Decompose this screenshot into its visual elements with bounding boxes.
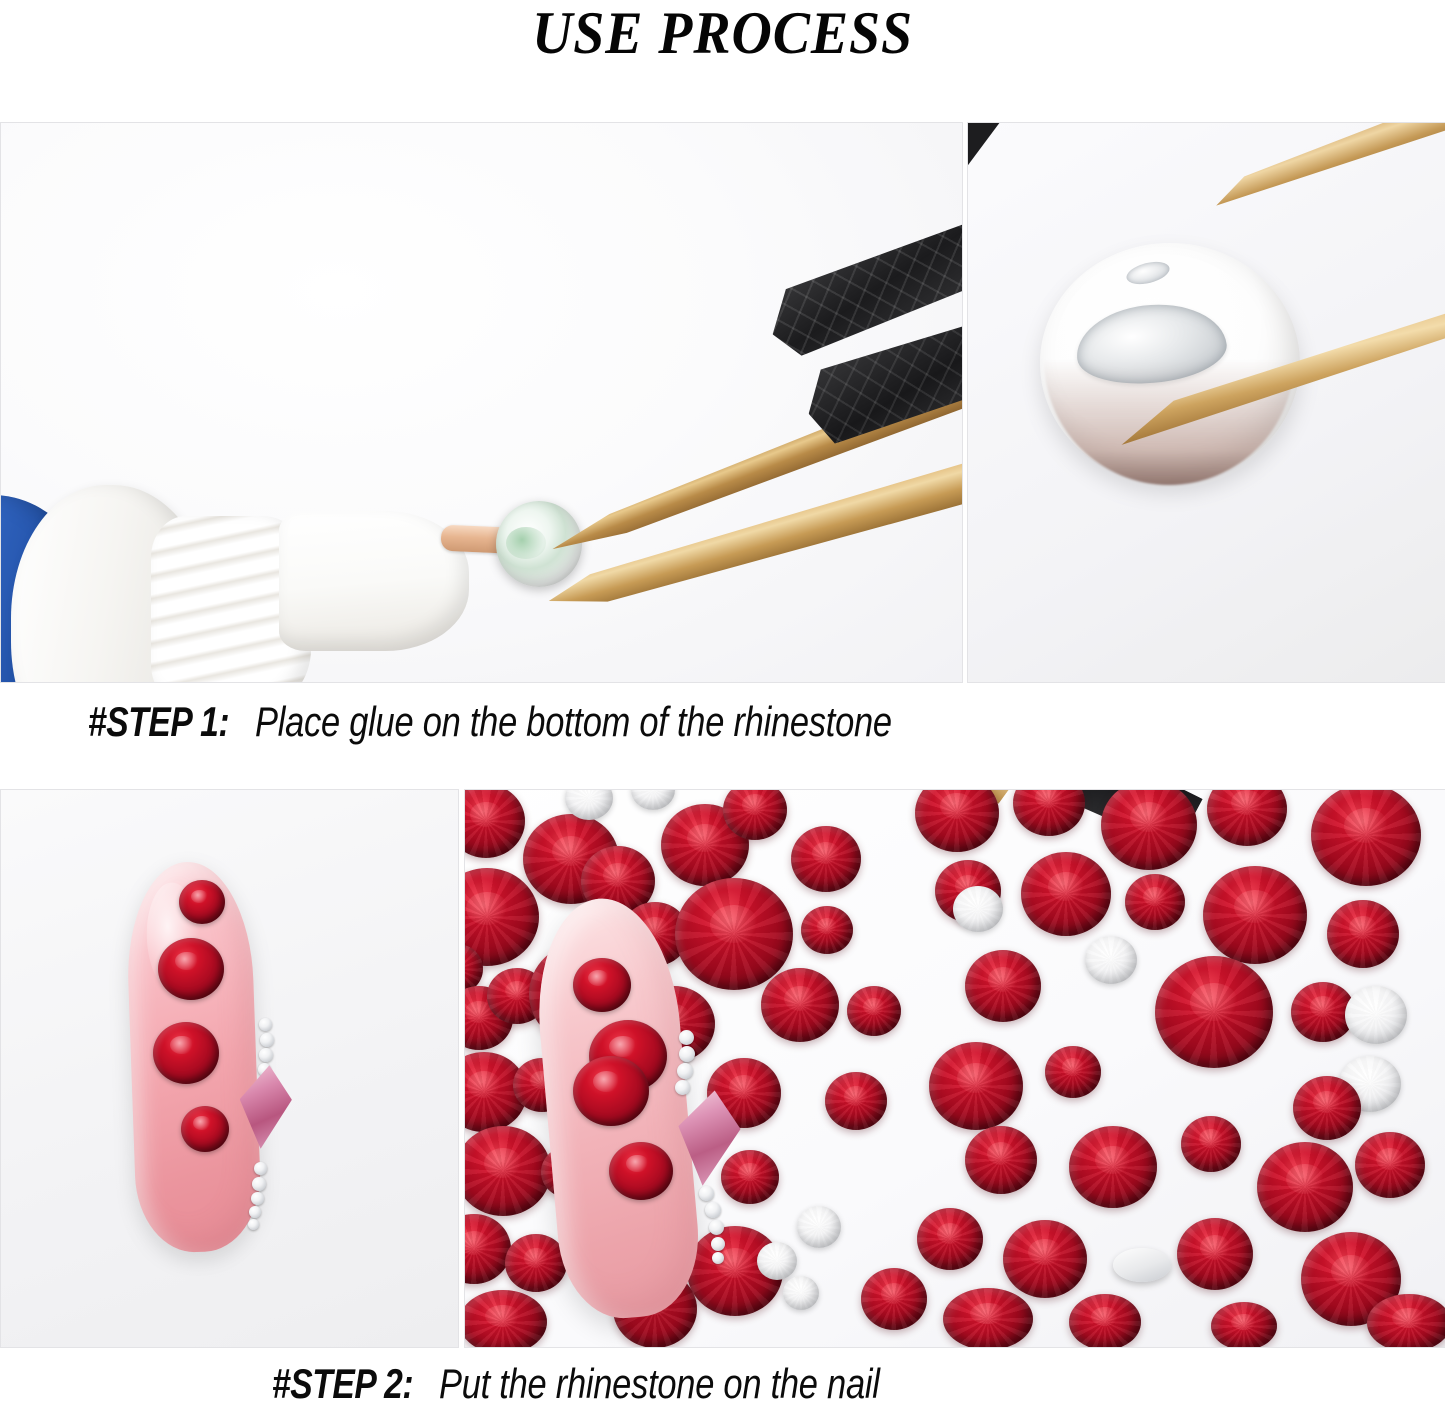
nail-clear-bead: [675, 1080, 690, 1095]
nail-clear-bead: [679, 1046, 695, 1062]
nail-red-rhinestone: [153, 1022, 219, 1084]
nail-red-rhinestone: [573, 958, 631, 1012]
scattered-rhinestone: [1155, 956, 1273, 1068]
nail-clear-bead: [254, 1162, 267, 1175]
nail-clear-bead: [711, 1237, 725, 1251]
nail-red-rhinestone: [573, 1056, 649, 1126]
scattered-rhinestone: [929, 1042, 1023, 1130]
nail-clear-bead: [679, 1030, 694, 1045]
scattered-clear-rhinestone: [783, 1276, 819, 1310]
nail-red-rhinestone: [179, 880, 225, 924]
nail-clear-bead: [248, 1219, 259, 1230]
scattered-rhinestone: [1069, 1294, 1141, 1348]
scattered-rhinestone: [1293, 1076, 1361, 1140]
glue-bottle-nozzle: [279, 511, 469, 651]
scattered-clear-rhinestone: [757, 1242, 797, 1280]
scattered-rhinestone: [1069, 1126, 1157, 1208]
use-process-infographic: USE PROCESS: [0, 0, 1445, 1412]
step-2-caption: #STEP 2:Put the rhinestone on the nail: [0, 1360, 1445, 1408]
nail-red-rhinestone: [181, 1106, 229, 1152]
scattered-rhinestone: [761, 968, 839, 1042]
scattered-clear-rhinestone: [953, 886, 1003, 932]
scattered-clear-rhinestone: [1085, 936, 1137, 984]
page-title: USE PROCESS: [51, 2, 1395, 65]
scattered-rhinestone: [1367, 1294, 1445, 1348]
nail-clear-bead: [709, 1220, 724, 1235]
scattered-rhinestone: [675, 878, 793, 990]
step-2-label: #STEP 2:: [272, 1360, 413, 1408]
nail-red-rhinestone: [609, 1142, 673, 1200]
nail-clear-bead: [251, 1192, 264, 1205]
nail-clear-bead: [259, 1048, 273, 1062]
scattered-rhinestone: [965, 950, 1041, 1022]
scattered-rhinestone: [791, 826, 861, 892]
scattered-rhinestone: [1355, 1132, 1425, 1198]
scattered-rhinestone: [721, 1150, 779, 1204]
scattered-rhinestone: [825, 1072, 887, 1130]
nail-clear-bead: [705, 1202, 721, 1218]
step-2-photo-row: [0, 789, 1445, 1348]
nail-clear-bead: [260, 1033, 274, 1047]
scattered-rhinestone: [1045, 1046, 1101, 1098]
nail-clear-bead: [712, 1252, 724, 1264]
nail-clear-bead: [677, 1063, 693, 1079]
nail-clear-bead: [252, 1177, 266, 1191]
finished-nail-photo: [0, 789, 459, 1348]
nail-red-rhinestone: [158, 938, 224, 1000]
step-1-label: #STEP 1:: [88, 698, 229, 746]
scattered-rhinestone: [801, 906, 853, 954]
scattered-rhinestone: [1003, 1220, 1087, 1298]
nail-clear-bead: [259, 1018, 272, 1031]
scattered-rhinestone: [1181, 1116, 1241, 1172]
scattered-rhinestone: [965, 1126, 1037, 1194]
scattered-rhinestone: [917, 1208, 983, 1270]
applying-rhinestone-photo: [464, 789, 1445, 1348]
scattered-rhinestone: [1177, 1218, 1253, 1290]
scattered-flatback-rhinestone: [1113, 1248, 1171, 1282]
nail-clear-bead: [249, 1206, 261, 1218]
scattered-rhinestone: [1211, 1302, 1277, 1348]
scattered-rhinestone: [1125, 874, 1185, 930]
glue-on-rhinestone-closeup-photo: [967, 122, 1445, 683]
glue-bottle-tweezers-photo: [0, 122, 963, 683]
step-1-caption: #STEP 1:Place glue on the bottom of the …: [0, 698, 1445, 746]
scattered-rhinestone: [847, 986, 901, 1036]
scattered-rhinestone: [1257, 1142, 1353, 1232]
scattered-rhinestone: [1327, 900, 1399, 968]
step-1-photo-row: [0, 122, 1445, 683]
step-2-text: Put the rhinestone on the nail: [439, 1360, 880, 1408]
scattered-rhinestone: [1203, 866, 1307, 964]
nail-clear-bead: [699, 1186, 714, 1201]
scattered-clear-rhinestone: [797, 1206, 841, 1248]
scattered-rhinestone: [943, 1288, 1033, 1348]
step-1-text: Place glue on the bottom of the rhinesto…: [255, 698, 892, 746]
scattered-rhinestone: [861, 1268, 927, 1330]
scattered-clear-rhinestone: [1345, 986, 1407, 1044]
scattered-rhinestone: [1021, 852, 1111, 936]
